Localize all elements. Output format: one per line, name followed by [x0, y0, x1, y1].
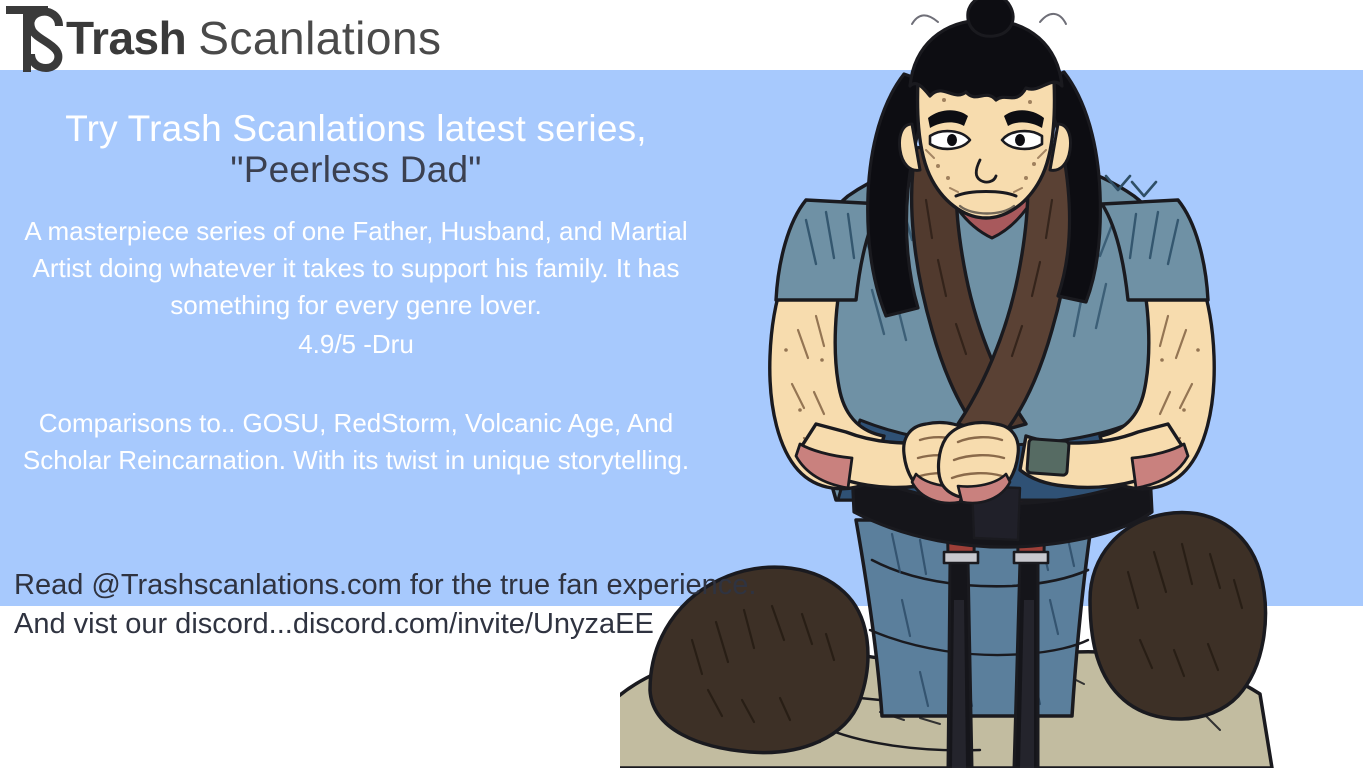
promo-headline: Try Trash Scanlations latest series, "Pe…: [0, 108, 712, 191]
cta-discord-line[interactable]: And vist our discord...discord.com/invit…: [14, 605, 774, 644]
promo-rating: 4.9/5 -Dru: [0, 326, 712, 363]
brand-name-bold: Trash: [66, 15, 186, 61]
promo-comparisons: Comparisons to.. GOSU, RedStorm, Volcani…: [0, 405, 712, 481]
cta-website-line[interactable]: Read @Trashscanlations.com for the true …: [14, 566, 774, 605]
peerless-dad-character-illustration: [620, 0, 1366, 768]
ts-monogram-icon: [4, 0, 72, 76]
series-title: "Peerless Dad": [0, 149, 712, 190]
brand-logo[interactable]: Trash Scanlations: [4, 2, 442, 74]
brand-wordmark: Trash Scanlations: [66, 15, 442, 61]
call-to-action: Read @Trashscanlations.com for the true …: [14, 566, 774, 644]
promo-poster: Trash Scanlations Try Trash Scanlations …: [0, 0, 1366, 768]
brand-name-light: Scanlations: [198, 15, 441, 61]
right-leg: [1090, 512, 1265, 719]
headline-line-1: Try Trash Scanlations latest series,: [65, 108, 647, 149]
hands-on-hilts: [904, 423, 1019, 503]
promo-blurb: A masterpiece series of one Father, Husb…: [0, 213, 712, 324]
promo-copy: Try Trash Scanlations latest series, "Pe…: [0, 108, 712, 480]
